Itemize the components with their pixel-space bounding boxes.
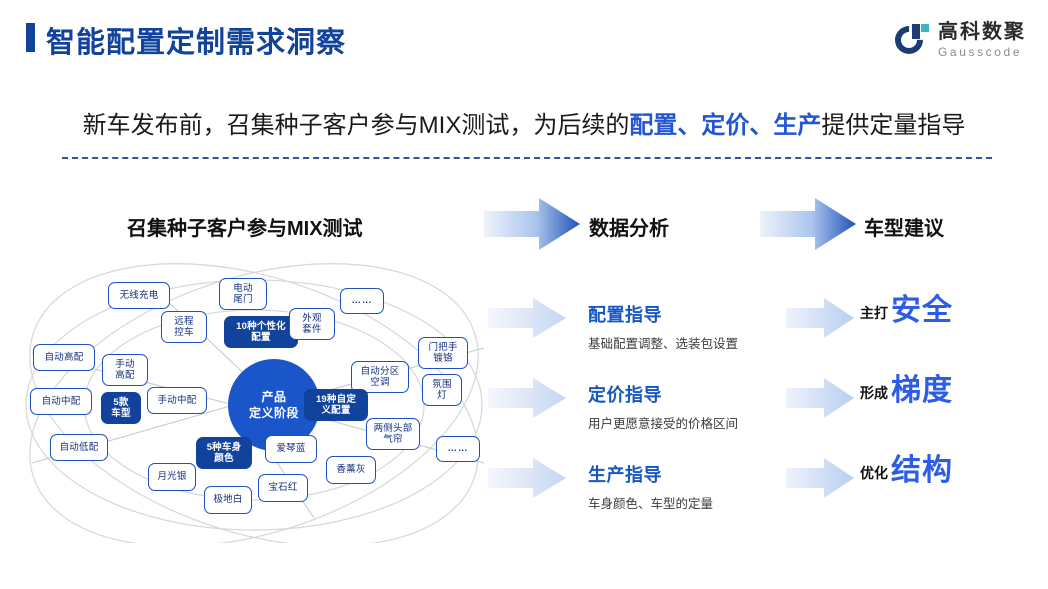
analysis-title: 生产指导 [588,461,828,487]
center-line-2: 定义阶段 [249,405,299,421]
title-accent-bar [26,23,35,52]
suggestion-keyword: 安全 [891,296,953,326]
mindmap-node: 10种个性化配置 [224,316,298,348]
slide-header: 智能配置定制需求洞察 高科数聚 Gausscode [0,0,1048,80]
column-header-collection: 召集种子客户参与MIX测试 [127,212,363,241]
mindmap-node: …… [340,288,384,314]
mindmap-node: 电动尾门 [219,278,267,310]
subtitle-pre: 新车发布前，召集种子客户参与MIX测试，为后续的 [83,112,630,139]
subtitle-highlight: 配置、定价、生产 [629,112,821,139]
mindmap-node: 外观套件 [289,308,335,340]
subtitle: 新车发布前，召集种子客户参与MIX测试，为后续的配置、定价、生产提供定量指导 [0,105,1048,140]
mindmap-node: 香薰灰 [326,456,376,484]
suggestion-prefix: 优化 [860,463,888,486]
suggestion-prefix: 形成 [860,383,888,406]
mindmap-node: 宝石红 [258,474,308,502]
analysis-desc: 用户更愿意接受的价格区间 [588,413,828,432]
analysis-title: 定价指导 [588,381,828,407]
mindmap-node: 极地白 [204,486,252,514]
mindmap-node: …… [436,436,480,462]
slide: 智能配置定制需求洞察 高科数聚 Gausscode 新车发布前，召集种子客户参与… [0,0,1048,589]
arrow-row-2-left-icon [488,378,566,418]
analysis-desc: 基础配置调整、选装包设置 [588,333,828,352]
logo-name-cn: 高科数聚 [938,22,1026,42]
mindmap-node: 手动高配 [102,354,148,386]
analysis-item-1: 配置指导 基础配置调整、选装包设置 [588,301,828,352]
brand-logo: 高科数聚 Gausscode [895,22,1026,58]
mindmap-node: 两侧头部气帘 [366,418,420,450]
arrow-header-1-icon [484,198,580,250]
mindmap-node: 5种车身颜色 [196,437,252,469]
mindmap-node: 无线充电 [108,282,170,309]
suggestion-item-3: 优化 结构 [860,456,953,486]
mindmap-node: 自动高配 [33,344,95,371]
analysis-desc: 车身颜色、车型的定量 [588,493,828,512]
logo-name-en: Gausscode [938,46,1026,58]
mindmap-node: 远程控车 [161,311,207,343]
mindmap-node: 手动中配 [147,387,207,414]
arrow-row-1-left-icon [488,298,566,338]
mindmap-node: 月光银 [148,463,196,491]
column-header-suggestion: 车型建议 [864,212,944,241]
suggestion-item-2: 形成 梯度 [860,376,953,406]
mindmap-node: 门把手镀铬 [418,337,468,369]
suggestion-item-1: 主打 安全 [860,296,953,326]
section-divider [62,157,992,159]
analysis-item-2: 定价指导 用户更愿意接受的价格区间 [588,381,828,432]
arrow-row-3-left-icon [488,458,566,498]
mindmap: 产品 定义阶段 无线充电电动尾门……远程控车10种个性化配置外观套件门把手镀铬自… [14,258,494,543]
suggestion-keyword: 结构 [891,456,953,486]
center-line-1: 产品 [261,389,286,405]
page-title: 智能配置定制需求洞察 [46,19,346,61]
mindmap-node: 自动低配 [50,434,108,461]
mindmap-node: 爱琴蓝 [265,435,317,463]
mindmap-node: 19种自定义配置 [304,389,368,421]
analysis-title: 配置指导 [588,301,828,327]
mindmap-node: 自动中配 [30,388,92,415]
arrow-header-2-icon [760,198,856,250]
analysis-item-3: 生产指导 车身颜色、车型的定量 [588,461,828,512]
mindmap-node: 氛围灯 [422,374,462,406]
gausscode-logo-icon [895,23,929,57]
suggestion-prefix: 主打 [860,303,888,326]
subtitle-post: 提供定量指导 [821,112,965,139]
column-header-analysis: 数据分析 [589,212,669,241]
mindmap-node: 5款车型 [101,392,141,424]
suggestion-keyword: 梯度 [891,376,953,406]
